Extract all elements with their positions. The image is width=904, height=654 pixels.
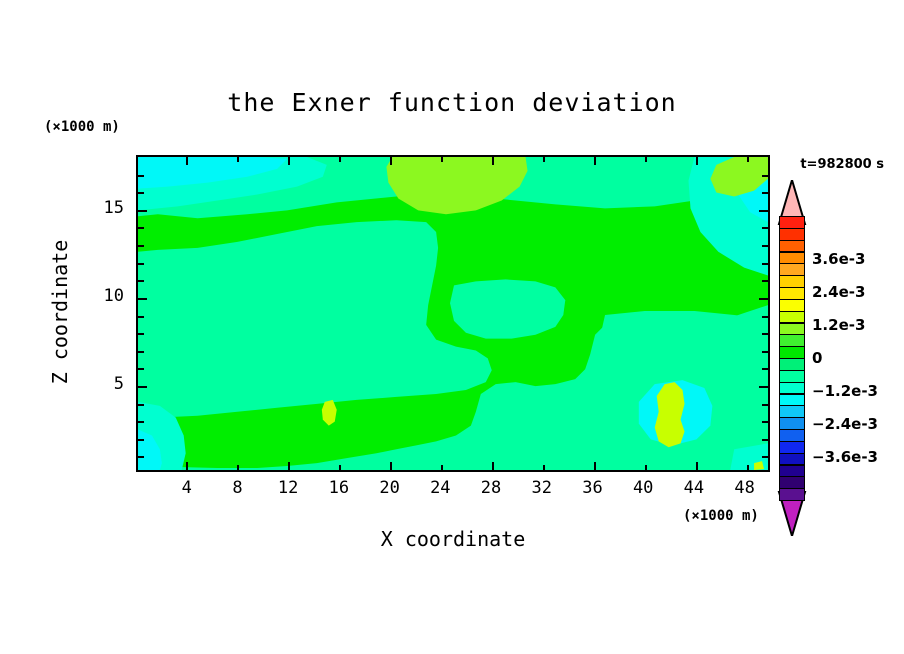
x-tick-label: 44 [674, 478, 714, 498]
x-axis-title: X coordinate [136, 527, 770, 551]
y-axis-tick [138, 386, 147, 388]
y-axis-minor-tick [138, 456, 144, 458]
x-tick-label: 28 [471, 478, 511, 498]
y-axis-minor-tick-right [762, 421, 768, 423]
x-tick-label: 48 [725, 478, 765, 498]
page-title: the Exner function deviation [0, 88, 904, 117]
y-axis-minor-tick-right [762, 175, 768, 177]
colorbar-segment [779, 488, 805, 501]
y-axis-title: Z coordinate [48, 222, 72, 402]
y-axis-minor-tick [138, 263, 144, 265]
x-tick-label: 20 [370, 478, 410, 498]
y-axis-minor-tick [138, 439, 144, 441]
x-axis-unit-label: (×1000 m) [683, 508, 759, 524]
x-tick-label: 4 [167, 478, 207, 498]
x-tick-label: 40 [623, 478, 663, 498]
colorbar-tick-label: 0 [812, 349, 822, 367]
y-axis-minor-tick [138, 175, 144, 177]
y-axis-minor-tick [138, 333, 144, 335]
y-axis-minor-tick-right [762, 192, 768, 194]
y-axis-minor-tick [138, 192, 144, 194]
colorbar-tick-label: 2.4e-3 [812, 283, 865, 301]
y-axis-minor-tick [138, 316, 144, 318]
y-axis-minor-tick-right [762, 245, 768, 247]
contour-plot-area[interactable] [136, 155, 770, 472]
y-axis-tick [138, 210, 147, 212]
y-axis-minor-tick [138, 404, 144, 406]
y-axis-minor-tick-right [762, 263, 768, 265]
y-axis-minor-tick [138, 280, 144, 282]
colorbar-tick-label: 1.2e-3 [812, 316, 865, 334]
colorbar-tick-label: 3.6e-3 [812, 250, 865, 268]
contour-field [138, 157, 768, 470]
y-axis-minor-tick-right [762, 227, 768, 229]
x-tick-label: 16 [319, 478, 359, 498]
y-axis-tick-right [759, 386, 768, 388]
y-tick-label: 10 [96, 286, 124, 306]
y-tick-label: 5 [96, 374, 124, 394]
y-axis-minor-tick-right [762, 368, 768, 370]
y-axis-minor-tick-right [762, 456, 768, 458]
y-axis-unit-label: (×1000 m) [44, 119, 120, 135]
y-axis-minor-tick [138, 368, 144, 370]
y-axis-minor-tick-right [762, 333, 768, 335]
y-axis-tick-right [759, 298, 768, 300]
y-axis-minor-tick [138, 351, 144, 353]
timestamp-annotation: t=982800 s [800, 157, 884, 172]
y-axis-minor-tick-right [762, 316, 768, 318]
x-tick-label: 32 [522, 478, 562, 498]
colorbar-tick-label: −1.2e-3 [812, 382, 878, 400]
y-axis-tick [138, 298, 147, 300]
y-axis-minor-tick [138, 421, 144, 423]
x-tick-label: 36 [572, 478, 612, 498]
colorbar-tick-label: −3.6e-3 [812, 448, 878, 466]
x-tick-label: 8 [217, 478, 257, 498]
colorbar[interactable] [779, 216, 805, 500]
y-axis-tick-right [759, 210, 768, 212]
y-axis-minor-tick-right [762, 280, 768, 282]
colorbar-tick-label: −2.4e-3 [812, 415, 878, 433]
y-axis-minor-tick-right [762, 439, 768, 441]
y-axis-minor-tick-right [762, 404, 768, 406]
y-axis-minor-tick [138, 227, 144, 229]
x-tick-label: 12 [268, 478, 308, 498]
y-tick-label: 15 [96, 198, 124, 218]
y-axis-minor-tick-right [762, 351, 768, 353]
x-tick-label: 24 [420, 478, 460, 498]
y-axis-minor-tick [138, 245, 144, 247]
